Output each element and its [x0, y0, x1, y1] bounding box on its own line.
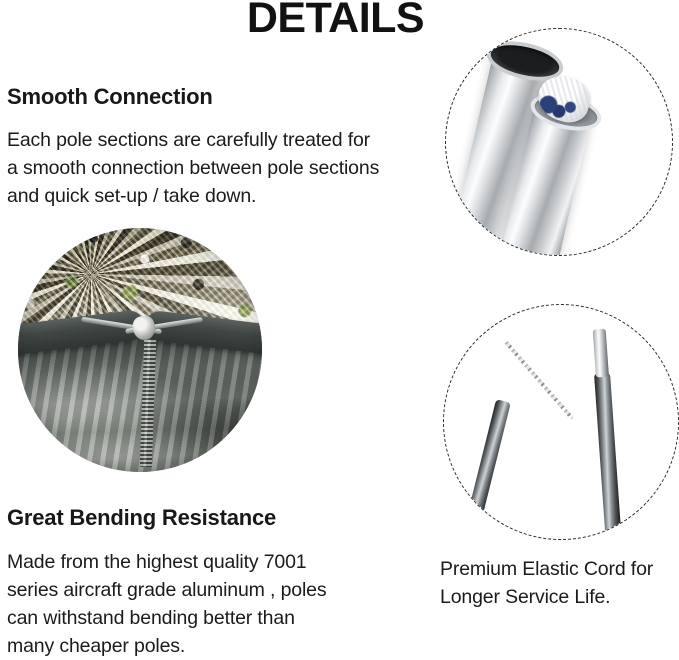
section-body-bending-resistance: Made from the highest quality 7001 serie…	[7, 548, 427, 660]
elastic-cord-illustration	[444, 305, 678, 539]
pole-section-left	[448, 399, 511, 539]
section-body-smooth-connection: Each pole sections are carefully treated…	[7, 126, 437, 210]
tent-photo-image	[18, 228, 262, 472]
body-line: series aircraft grade aluminum , poles	[7, 576, 427, 604]
body-line: and quick set-up / take down.	[7, 182, 437, 210]
tent-photo-circle	[18, 228, 262, 472]
body-line: Each pole sections are carefully treated…	[7, 126, 437, 154]
elastic-shock-cord	[502, 339, 573, 420]
elastic-cord-circle	[443, 304, 679, 540]
caption-line: Longer Service Life.	[440, 583, 675, 611]
body-line: many cheaper poles.	[7, 632, 427, 660]
page-title: DETAILS	[228, 0, 443, 40]
pole-section-right-tip	[593, 329, 609, 378]
aluminum-tubes-illustration	[446, 29, 672, 255]
aluminum-tubes-circle	[445, 28, 673, 256]
caption-elastic-cord: Premium Elastic Cord for Longer Service …	[440, 555, 675, 611]
body-line: can withstand bending better than	[7, 604, 427, 632]
caption-line: Premium Elastic Cord for	[440, 555, 675, 583]
section-heading-bending-resistance: Great Bending Resistance	[7, 505, 276, 531]
pole-section-right	[594, 372, 623, 539]
body-line: Made from the highest quality 7001	[7, 548, 427, 576]
body-line: a smooth connection between pole section…	[7, 154, 437, 182]
section-heading-smooth-connection: Smooth Connection	[7, 84, 213, 110]
